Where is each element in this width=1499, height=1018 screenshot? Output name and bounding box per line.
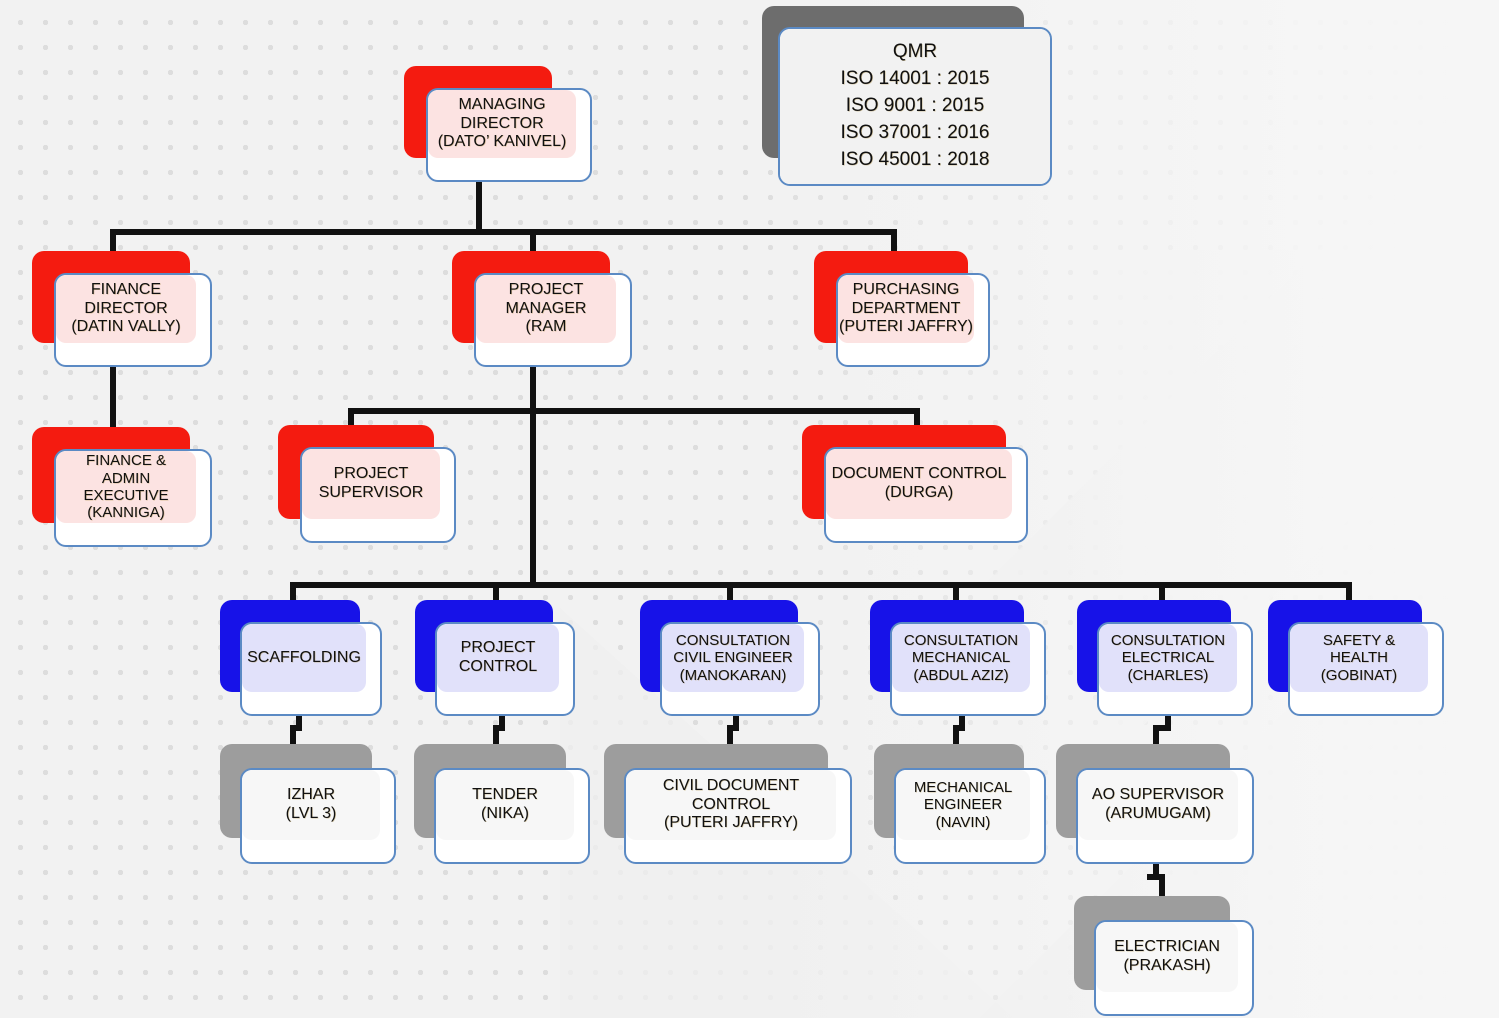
node-purchasing-department-card: PURCHASING DEPARTMENT (PUTERI JAFFRY) (836, 273, 990, 367)
node-finance-admin-executive-title-2: ADMIN (102, 470, 150, 487)
node-project-control-title-2: CONTROL (459, 658, 537, 677)
node-project-supervisor[interactable]: PROJECT SUPERVISOR (278, 425, 456, 543)
node-izhar-body: IZHAR (LVL 3) (242, 770, 380, 840)
node-tender[interactable]: TENDER (NIKA) (414, 744, 590, 864)
node-consultation-mechanical-title-2: MECHANICAL (912, 649, 1010, 666)
qmr-heading: QMR (893, 39, 937, 66)
node-project-manager-title-2: MANAGER (506, 300, 587, 319)
node-document-control-body: DOCUMENT CONTROL (DURGA) (826, 449, 1012, 519)
connector-finance-director-down (110, 363, 116, 435)
node-managing-director-body: MANAGING DIRECTOR (DATO’ KANIVEL) (428, 90, 576, 158)
node-consultation-mechanical[interactable]: CONSULTATION MECHANICAL (ABDUL AZIZ) (870, 600, 1046, 716)
node-project-supervisor-title-2: SUPERVISOR (319, 484, 424, 503)
node-purchasing-department-body: PURCHASING DEPARTMENT (PUTERI JAFFRY) (838, 275, 974, 343)
node-finance-admin-executive-title-3: EXECUTIVE (83, 487, 168, 504)
node-ao-supervisor-card: AO SUPERVISOR (ARUMUGAM) (1076, 768, 1254, 864)
connector-row4-bus (290, 582, 1352, 588)
connector-row2-bus (110, 229, 897, 235)
node-consultation-mechanical-card: CONSULTATION MECHANICAL (ABDUL AZIZ) (890, 622, 1046, 716)
connector-row3-bus (348, 408, 920, 414)
node-finance-admin-executive-card: FINANCE & ADMIN EXECUTIVE (KANNIGA) (54, 449, 212, 547)
node-document-control-title-1: DOCUMENT CONTROL (832, 465, 1007, 484)
node-consultation-civil-engineer-person: (MANOKARAN) (680, 667, 787, 684)
node-izhar-title-1: IZHAR (287, 786, 335, 805)
node-project-manager-title-1: PROJECT (509, 281, 584, 300)
node-purchasing-department-title-1: PURCHASING (853, 281, 960, 300)
node-izhar[interactable]: IZHAR (LVL 3) (220, 744, 396, 864)
node-purchasing-department[interactable]: PURCHASING DEPARTMENT (PUTERI JAFFRY) (814, 251, 990, 367)
node-safety-health-body: SAFETY & HEALTH (GOBINAT) (1290, 624, 1428, 692)
qmr-panel[interactable]: QMR ISO 14001 : 2015 ISO 9001 : 2015 ISO… (762, 6, 1054, 186)
qmr-standard-2: ISO 37001 : 2016 (841, 120, 990, 147)
node-finance-admin-executive[interactable]: FINANCE & ADMIN EXECUTIVE (KANNIGA) (32, 427, 212, 547)
node-mechanical-engineer[interactable]: MECHANICAL ENGINEER (NAVIN) (874, 744, 1046, 864)
node-consultation-electrical-person: (CHARLES) (1128, 667, 1209, 684)
node-electrician-card: ELECTRICIAN (PRAKASH) (1094, 920, 1254, 1016)
node-finance-admin-executive-person: (KANNIGA) (87, 504, 165, 521)
node-finance-admin-executive-title-1: FINANCE & (86, 452, 166, 469)
node-electrician[interactable]: ELECTRICIAN (PRAKASH) (1074, 896, 1254, 1016)
node-mechanical-engineer-title-1: MECHANICAL (914, 779, 1012, 796)
node-consultation-civil-engineer-card: CONSULTATION CIVIL ENGINEER (MANOKARAN) (660, 622, 820, 716)
node-consultation-mechanical-person: (ABDUL AZIZ) (913, 667, 1008, 684)
qmr-standard-0: ISO 14001 : 2015 (841, 66, 990, 93)
node-safety-health-card: SAFETY & HEALTH (GOBINAT) (1288, 622, 1444, 716)
node-managing-director-person: (DATO’ KANIVEL) (438, 133, 567, 152)
org-chart-canvas: QMR ISO 14001 : 2015 ISO 9001 : 2015 ISO… (0, 0, 1499, 1018)
node-consultation-electrical-body: CONSULTATION ELECTRICAL (CHARLES) (1099, 624, 1237, 692)
node-ao-supervisor-body: AO SUPERVISOR (ARUMUGAM) (1078, 770, 1238, 840)
node-civil-document-control-body: CIVIL DOCUMENT CONTROL (PUTERI JAFFRY) (626, 770, 836, 840)
node-scaffolding-card: SCAFFOLDING (240, 622, 382, 716)
node-finance-director-body: FINANCE DIRECTOR (DATIN VALLY) (56, 275, 196, 343)
connector-ao-down-b (1159, 874, 1165, 896)
node-tender-person: (NIKA) (481, 805, 529, 824)
node-consultation-electrical-card: CONSULTATION ELECTRICAL (CHARLES) (1097, 622, 1253, 716)
node-finance-director-card: FINANCE DIRECTOR (DATIN VALLY) (54, 273, 212, 367)
node-consultation-electrical[interactable]: CONSULTATION ELECTRICAL (CHARLES) (1077, 600, 1253, 716)
node-document-control-person: (DURGA) (885, 484, 953, 503)
node-finance-director[interactable]: FINANCE DIRECTOR (DATIN VALLY) (32, 251, 212, 367)
node-scaffolding-body: SCAFFOLDING (242, 624, 366, 692)
qmr-standard-3: ISO 45001 : 2018 (841, 147, 990, 174)
node-managing-director[interactable]: MANAGING DIRECTOR (DATO’ KANIVEL) (404, 66, 594, 182)
node-consultation-civil-engineer-body: CONSULTATION CIVIL ENGINEER (MANOKARAN) (662, 624, 804, 692)
node-electrician-person: (PRAKASH) (1123, 957, 1210, 976)
node-scaffolding-title-1: SCAFFOLDING (247, 649, 361, 668)
node-project-manager-body: PROJECT MANAGER (RAM (476, 275, 616, 343)
node-project-manager[interactable]: PROJECT MANAGER (RAM (452, 251, 632, 367)
node-izhar-card: IZHAR (LVL 3) (240, 768, 396, 864)
node-civil-document-control-person: (PUTERI JAFFRY) (664, 814, 798, 833)
node-consultation-civil-engineer-title-2: CIVIL ENGINEER (673, 649, 792, 666)
node-consultation-electrical-title-1: CONSULTATION (1111, 632, 1225, 649)
node-civil-document-control-title-1: CIVIL DOCUMENT (663, 777, 799, 796)
node-project-supervisor-card: PROJECT SUPERVISOR (300, 447, 456, 543)
node-safety-health-title-1: SAFETY & (1323, 632, 1395, 649)
node-safety-health-title-2: HEALTH (1330, 649, 1388, 666)
node-project-supervisor-title-1: PROJECT (334, 465, 409, 484)
node-finance-director-title-1: FINANCE (91, 281, 161, 300)
node-consultation-mechanical-body: CONSULTATION MECHANICAL (ABDUL AZIZ) (892, 624, 1030, 692)
node-mechanical-engineer-person: (NAVIN) (936, 814, 991, 831)
node-purchasing-department-person: (PUTERI JAFFRY) (839, 318, 973, 337)
node-civil-document-control[interactable]: CIVIL DOCUMENT CONTROL (PUTERI JAFFRY) (604, 744, 852, 864)
node-consultation-civil-engineer[interactable]: CONSULTATION CIVIL ENGINEER (MANOKARAN) (640, 600, 820, 716)
node-mechanical-engineer-card: MECHANICAL ENGINEER (NAVIN) (894, 768, 1046, 864)
connector-md-down (476, 175, 482, 235)
node-project-manager-card: PROJECT MANAGER (RAM (474, 273, 632, 367)
node-ao-supervisor-person: (ARUMUGAM) (1105, 805, 1211, 824)
node-project-control-body: PROJECT CONTROL (437, 624, 559, 692)
node-scaffolding[interactable]: SCAFFOLDING (220, 600, 382, 716)
node-managing-director-card: MANAGING DIRECTOR (DATO’ KANIVEL) (426, 88, 592, 182)
node-mechanical-engineer-body: MECHANICAL ENGINEER (NAVIN) (896, 770, 1030, 840)
node-civil-document-control-card: CIVIL DOCUMENT CONTROL (PUTERI JAFFRY) (624, 768, 852, 864)
node-document-control[interactable]: DOCUMENT CONTROL (DURGA) (802, 425, 1028, 543)
node-project-control[interactable]: PROJECT CONTROL (415, 600, 575, 716)
node-izhar-person: (LVL 3) (286, 805, 337, 824)
node-finance-director-title-2: DIRECTOR (84, 300, 167, 319)
node-tender-title-1: TENDER (472, 786, 538, 805)
qmr-panel-card: QMR ISO 14001 : 2015 ISO 9001 : 2015 ISO… (778, 27, 1052, 186)
node-consultation-civil-engineer-title-1: CONSULTATION (676, 632, 790, 649)
node-project-control-card: PROJECT CONTROL (435, 622, 575, 716)
node-document-control-card: DOCUMENT CONTROL (DURGA) (824, 447, 1028, 543)
node-ao-supervisor[interactable]: AO SUPERVISOR (ARUMUGAM) (1056, 744, 1254, 864)
node-consultation-mechanical-title-1: CONSULTATION (904, 632, 1018, 649)
qmr-standard-1: ISO 9001 : 2015 (846, 93, 984, 120)
node-mechanical-engineer-title-2: ENGINEER (924, 796, 1002, 813)
connector-pm-down (530, 363, 536, 411)
node-electrician-body: ELECTRICIAN (PRAKASH) (1096, 922, 1238, 992)
node-purchasing-department-title-2: DEPARTMENT (852, 300, 961, 319)
node-tender-body: TENDER (NIKA) (436, 770, 574, 840)
node-tender-card: TENDER (NIKA) (434, 768, 590, 864)
node-managing-director-title-2: DIRECTOR (460, 115, 543, 134)
node-ao-supervisor-title-1: AO SUPERVISOR (1092, 786, 1224, 805)
node-finance-director-person: (DATIN VALLY) (71, 318, 180, 337)
node-electrician-title-1: ELECTRICIAN (1114, 938, 1220, 957)
node-managing-director-title-1: MANAGING (458, 96, 545, 115)
node-project-supervisor-body: PROJECT SUPERVISOR (302, 449, 440, 519)
node-project-control-title-1: PROJECT (461, 639, 536, 658)
node-consultation-electrical-title-2: ELECTRICAL (1122, 649, 1215, 666)
node-civil-document-control-title-2: CONTROL (692, 796, 770, 815)
connector-pm-trunk (530, 408, 536, 586)
qmr-panel-body: QMR ISO 14001 : 2015 ISO 9001 : 2015 ISO… (780, 29, 1050, 184)
node-project-manager-person: (RAM (526, 318, 567, 337)
node-finance-admin-executive-body: FINANCE & ADMIN EXECUTIVE (KANNIGA) (56, 451, 196, 523)
node-safety-health[interactable]: SAFETY & HEALTH (GOBINAT) (1268, 600, 1444, 716)
node-safety-health-person: (GOBINAT) (1321, 667, 1397, 684)
